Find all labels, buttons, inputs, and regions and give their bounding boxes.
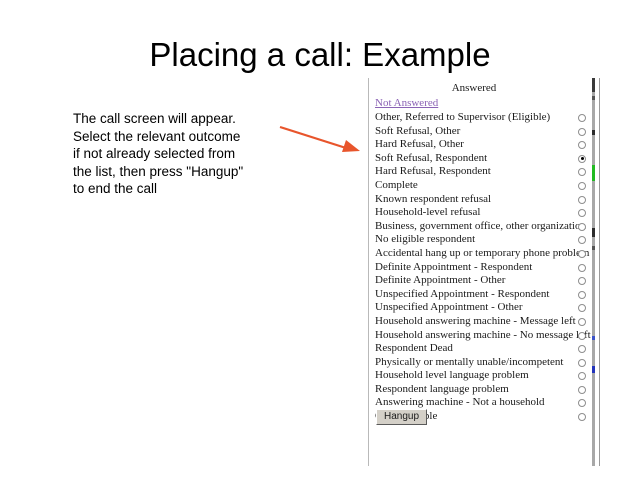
scrollbar-mark (592, 246, 595, 250)
outcome-row[interactable]: Household-level refusal (369, 206, 593, 220)
outcome-radio-button[interactable] (578, 318, 586, 326)
outcome-label: Business, government office, other organ… (375, 220, 586, 234)
outcome-row[interactable]: Soft Refusal, Other (369, 125, 593, 139)
outcome-row[interactable]: Unspecified Appointment - Respondent (369, 288, 593, 302)
outcome-row[interactable]: Respondent Dead (369, 342, 593, 356)
outcome-label: Other, Referred to Supervisor (Eligible) (375, 111, 550, 125)
window-scrollbar-strip[interactable] (592, 78, 595, 466)
hangup-button[interactable]: Hangup (376, 409, 427, 425)
outcome-label: Household level language problem (375, 369, 529, 383)
outcome-row[interactable]: Hard Refusal, Other (369, 138, 593, 152)
outcome-row[interactable]: Definite Appointment - Other (369, 274, 593, 288)
callout-line: Select the relevant outcome (73, 128, 283, 146)
outcome-radio-button[interactable] (578, 141, 586, 149)
scrollbar-mark (592, 336, 595, 340)
callout-line: to end the call (73, 180, 283, 198)
outcome-row[interactable]: Physically or mentally unable/incompeten… (369, 356, 593, 370)
scrollbar-mark (592, 130, 595, 135)
outcome-radio-button[interactable] (578, 114, 586, 122)
outcome-row[interactable]: Accidental hang up or temporary phone pr… (369, 247, 593, 261)
outcome-row[interactable]: Complete (369, 179, 593, 193)
outcome-radio-button[interactable] (578, 386, 586, 394)
scrollbar-mark (592, 78, 595, 92)
callout-line: if not already selected from (73, 145, 283, 163)
outcome-label: Household-level refusal (375, 206, 480, 220)
outcome-row[interactable]: Household level language problem (369, 369, 593, 383)
scrollbar-mark (592, 96, 595, 100)
callout-line: the list, then press "Hangup" (73, 163, 283, 181)
answered-header: Answered (369, 82, 579, 94)
outcome-list: Other, Referred to Supervisor (Eligible)… (369, 111, 593, 424)
outcome-label: Accidental hang up or temporary phone pr… (375, 247, 589, 261)
outcome-radio-button[interactable] (578, 372, 586, 380)
outcome-label: No eligible respondent (375, 233, 475, 247)
outcome-radio-button[interactable] (578, 223, 586, 231)
outcome-radio-button[interactable] (578, 264, 586, 272)
outcome-label: Respondent language problem (375, 383, 509, 397)
outcome-radio-button[interactable] (578, 345, 586, 353)
scrollbar-mark (592, 165, 595, 181)
arrow-icon (278, 120, 362, 160)
outcome-label: Definite Appointment - Respondent (375, 261, 532, 275)
scrollbar-mark (592, 366, 595, 373)
outcome-radio-button[interactable] (578, 304, 586, 312)
scrollbar-mark (592, 228, 595, 237)
outcome-radio-button[interactable] (578, 128, 586, 136)
outcome-label: Respondent Dead (375, 342, 453, 356)
outcome-label: Known respondent refusal (375, 193, 491, 207)
outcome-row[interactable]: Other, Referred to Supervisor (Eligible) (369, 111, 593, 125)
outcome-radio-button[interactable] (578, 332, 586, 340)
outcome-label: Household answering machine - Message le… (375, 315, 576, 329)
outcome-label: Unspecified Appointment - Respondent (375, 288, 549, 302)
outcome-radio-button[interactable] (578, 155, 586, 163)
not-answered-link[interactable]: Not Answered (375, 97, 438, 109)
outcome-label: Household answering machine - No message… (375, 329, 591, 343)
outcome-label: Hard Refusal, Respondent (375, 165, 491, 179)
outcome-radio-button[interactable] (578, 413, 586, 421)
call-screen-panel: Answered Not Answered Other, Referred to… (368, 78, 600, 466)
outcome-row[interactable]: Business, government office, other organ… (369, 220, 593, 234)
outcome-row[interactable]: Hard Refusal, Respondent (369, 165, 593, 179)
outcome-radio-button[interactable] (578, 277, 586, 285)
outcome-label: Soft Refusal, Respondent (375, 152, 487, 166)
outcome-radio-button[interactable] (578, 182, 586, 190)
outcome-radio-button[interactable] (578, 359, 586, 367)
outcome-row[interactable]: Soft Refusal, Respondent (369, 152, 593, 166)
outcome-row[interactable]: Known respondent refusal (369, 193, 593, 207)
outcome-row[interactable]: Household answering machine - Message le… (369, 315, 593, 329)
outcome-radio-button[interactable] (578, 291, 586, 299)
outcome-label: Definite Appointment - Other (375, 274, 505, 288)
callout-text: The call screen will appear. Select the … (73, 110, 283, 198)
outcome-label: Complete (375, 179, 418, 193)
outcome-label: Soft Refusal, Other (375, 125, 460, 139)
outcome-row[interactable]: No eligible respondent (369, 233, 593, 247)
outcome-radio-button[interactable] (578, 209, 586, 217)
outcome-row[interactable]: Definite Appointment - Respondent (369, 261, 593, 275)
outcome-radio-button[interactable] (578, 250, 586, 258)
outcome-label: Unspecified Appointment - Other (375, 301, 523, 315)
outcome-radio-button[interactable] (578, 168, 586, 176)
outcome-radio-button[interactable] (578, 399, 586, 407)
outcome-radio-button[interactable] (578, 196, 586, 204)
callout-line: The call screen will appear. (73, 110, 283, 128)
outcome-row[interactable]: Unspecified Appointment - Other (369, 301, 593, 315)
page-title: Placing a call: Example (0, 36, 640, 74)
outcome-row[interactable]: Respondent language problem (369, 383, 593, 397)
outcome-label: Physically or mentally unable/incompeten… (375, 356, 563, 370)
outcome-radio-button[interactable] (578, 236, 586, 244)
outcome-row[interactable]: Household answering machine - No message… (369, 329, 593, 343)
outcome-label: Hard Refusal, Other (375, 138, 464, 152)
